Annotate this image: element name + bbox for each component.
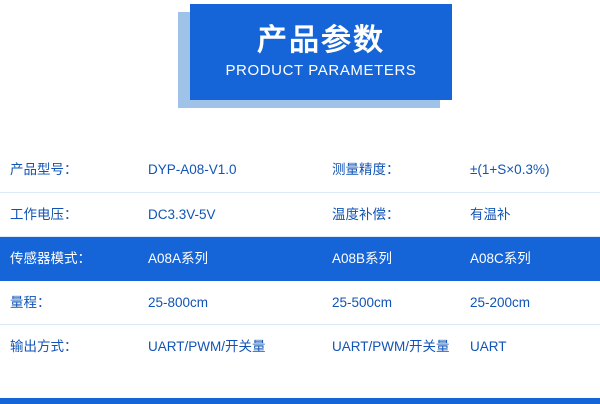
param-label: 温度补偿： bbox=[322, 192, 460, 236]
table-row: 量程： 25-800cm 25-500cm 25-200cm bbox=[0, 280, 600, 324]
param-value: 25-200cm bbox=[460, 280, 600, 324]
banner-title-en: PRODUCT PARAMETERS bbox=[225, 60, 416, 82]
table-row: 产品型号： DYP-A08-V1.0 测量精度： ±(1+S×0.3%) bbox=[0, 148, 600, 192]
banner-title-cn: 产品参数 bbox=[257, 22, 385, 60]
param-value: 有温补 bbox=[460, 192, 600, 236]
param-label: 输出方式： bbox=[0, 324, 138, 368]
table-row: 传感器模式： A08A系列 A08B系列 A08C系列 bbox=[0, 236, 600, 280]
param-value: UART bbox=[460, 324, 600, 368]
bottom-accent-bar bbox=[0, 398, 600, 404]
param-label: 工作电压： bbox=[0, 192, 138, 236]
param-value: A08A系列 bbox=[138, 236, 322, 280]
table-row: 输出方式： UART/PWM/开关量 UART/PWM/开关量 UART bbox=[0, 324, 600, 368]
header-banner: 产品参数 PRODUCT PARAMETERS bbox=[0, 0, 600, 128]
param-label: 量程： bbox=[0, 280, 138, 324]
param-value: A08B系列 bbox=[322, 236, 460, 280]
param-value: UART/PWM/开关量 bbox=[138, 324, 322, 368]
param-label: 产品型号： bbox=[0, 148, 138, 192]
param-label: 测量精度： bbox=[322, 148, 460, 192]
param-label: 传感器模式： bbox=[0, 236, 138, 280]
param-value: DC3.3V-5V bbox=[138, 192, 322, 236]
product-parameters-page: 产品参数 PRODUCT PARAMETERS 产品型号： DYP-A08-V1… bbox=[0, 0, 600, 404]
param-value: DYP-A08-V1.0 bbox=[138, 148, 322, 192]
table-row: 工作电压： DC3.3V-5V 温度补偿： 有温补 bbox=[0, 192, 600, 236]
param-value: 25-800cm bbox=[138, 280, 322, 324]
param-value: ±(1+S×0.3%) bbox=[460, 148, 600, 192]
param-value: 25-500cm bbox=[322, 280, 460, 324]
parameters-table: 产品型号： DYP-A08-V1.0 测量精度： ±(1+S×0.3%) 工作电… bbox=[0, 148, 600, 368]
param-value: A08C系列 bbox=[460, 236, 600, 280]
param-value: UART/PWM/开关量 bbox=[322, 324, 460, 368]
banner-main: 产品参数 PRODUCT PARAMETERS bbox=[190, 4, 452, 100]
